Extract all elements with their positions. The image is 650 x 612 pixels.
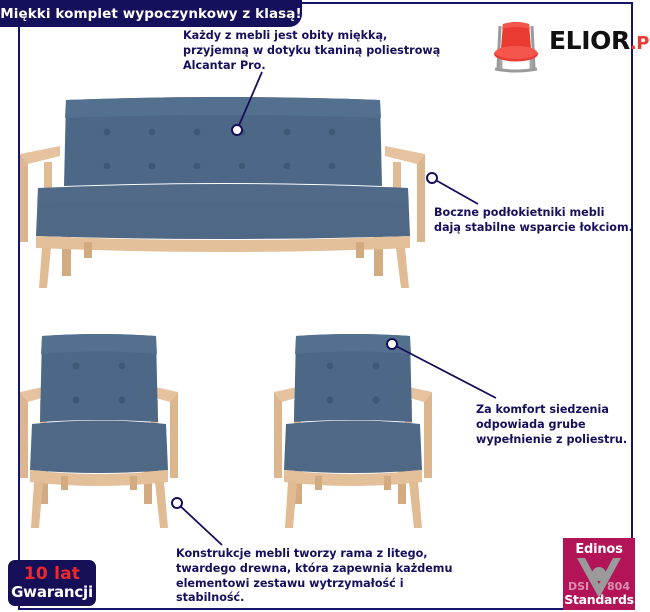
frame-border-bottom (18, 608, 633, 610)
red-chair-logo-icon (487, 18, 545, 74)
page-title-banner: Miękki komplet wypoczynkowy z klasą! (0, 0, 302, 27)
edinos-title: Edinos (563, 542, 635, 557)
callout-text-upholstery: Każdy z mebli jest obity miękką, przyjem… (183, 29, 473, 73)
callout-marker-upholstery[interactable] (231, 124, 243, 136)
product-image-sofa (14, 88, 434, 288)
callout-marker-construction[interactable] (171, 497, 183, 509)
callout-marker-armrests[interactable] (426, 172, 438, 184)
edinos-standards-badge: Edinos DSI 804 Standards (563, 538, 635, 610)
product-image-armchair-right (268, 328, 438, 528)
warranty-years: 10 lat (24, 566, 80, 583)
edinos-subtitle: Standards (563, 592, 635, 607)
brand-name-main: ELIOR (549, 26, 630, 55)
brand-logo: ELIOR.PL (487, 18, 632, 74)
callout-text-construction: Konstrukcje mebli tworzy rama z litego, … (176, 547, 476, 606)
warranty-badge: 10 lat Gwarancji (8, 560, 96, 606)
frame-border-right (631, 2, 633, 610)
warranty-label: Gwarancji (11, 585, 93, 600)
page-title: Miękki komplet wypoczynkowy z klasą! (0, 6, 302, 22)
brand-name: ELIOR.PL (549, 28, 650, 53)
brand-name-tld: .PL (630, 33, 650, 54)
callout-marker-comfort[interactable] (386, 338, 398, 350)
callout-text-comfort: Za komfort siedzenia odpowiada grube wyp… (476, 403, 650, 447)
frame-border-top (300, 2, 633, 4)
product-image-armchair-left (14, 328, 184, 528)
product-infographic-page: Miękki komplet wypoczynkowy z klasą! ELI… (0, 0, 650, 612)
callout-text-armrests: Boczne podłokietniki mebli dają stabilne… (434, 206, 648, 236)
